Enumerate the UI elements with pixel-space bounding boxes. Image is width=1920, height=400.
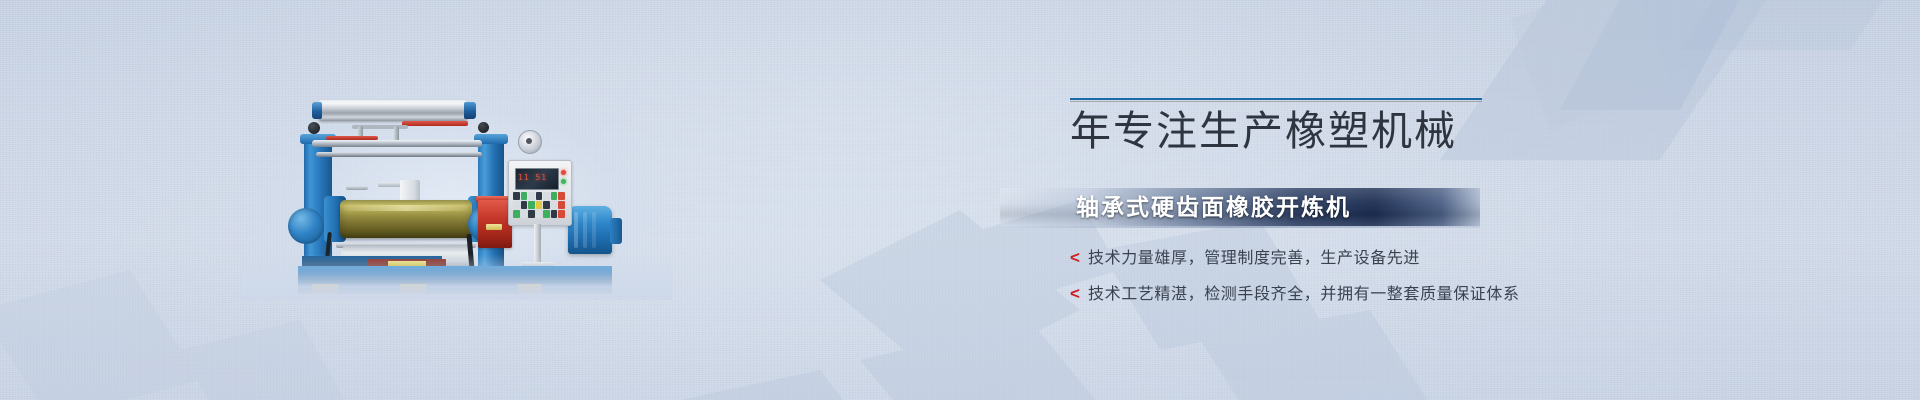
feature-text: 技术力量雄厚，管理制度完善，生产设备先进	[1088, 248, 1420, 270]
feature-item: < 技术工艺精湛，检测手段齐全，并拥有一整套质量保证体系	[1070, 284, 1710, 306]
feature-list: < 技术力量雄厚，管理制度完善，生产设备先进 < 技术工艺精湛，检测手段齐全，并…	[1070, 248, 1710, 320]
product-name-label: 轴承式硬齿面橡胶开炼机	[1076, 191, 1351, 223]
chevron-left-icon: <	[1070, 248, 1088, 268]
headline-rule-blue	[1070, 98, 1482, 100]
product-name-bar-underline	[1000, 226, 1480, 228]
banner-content: 年专注生产橡塑机械 轴承式硬齿面橡胶开炼机 < 技术力量雄厚，管理制度完善，生产…	[0, 0, 1920, 400]
chevron-left-icon: <	[1070, 284, 1088, 304]
promo-banner: 11 51	[0, 0, 1920, 400]
headline-rule	[1070, 98, 1482, 102]
feature-text: 技术工艺精湛，检测手段齐全，并拥有一整套质量保证体系	[1088, 284, 1520, 306]
feature-item: < 技术力量雄厚，管理制度完善，生产设备先进	[1070, 248, 1710, 270]
banner-headline: 年专注生产橡塑机械	[1070, 108, 1670, 154]
headline-rule-grey	[1070, 101, 1482, 102]
